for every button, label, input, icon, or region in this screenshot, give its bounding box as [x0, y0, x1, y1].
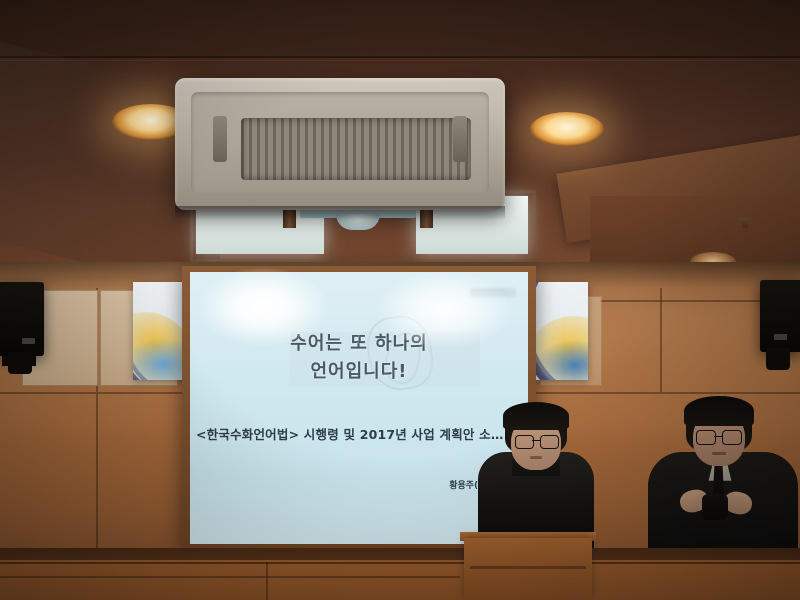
- ac-vane: [453, 116, 467, 162]
- speaker-mount-bracket: [766, 348, 790, 370]
- presenter-mouth: [530, 456, 542, 459]
- wainscot-seam: [0, 576, 460, 578]
- interpreter-hands-gap-shadow: [702, 494, 728, 520]
- recessed-downlight: [530, 112, 604, 146]
- interpreter-glasses-bridge: [714, 436, 722, 437]
- ceiling-cassette-air-conditioner: [175, 78, 505, 210]
- speaker-mount-arm: [2, 356, 36, 366]
- wall-panel-seam: [660, 288, 662, 392]
- interpreter-hair-top: [684, 396, 754, 426]
- wood-wainscot: [0, 560, 800, 600]
- slide-title-line2: 언어입니다!: [190, 358, 528, 386]
- podium-front-edge: [470, 566, 586, 569]
- ceiling-seam-highlight: [0, 60, 800, 61]
- wall-panel-seam: [96, 394, 98, 550]
- ac-drop-shadow: [175, 206, 505, 220]
- ac-vane: [213, 116, 227, 162]
- wooden-podium: [464, 538, 592, 600]
- ceiling-seam: [0, 56, 800, 58]
- slide-title: 수어는 또 하나의 언어입니다!: [190, 330, 528, 386]
- interpreter-glasses: [696, 430, 716, 445]
- ceiling-dark-band: [0, 0, 800, 58]
- ac-inner-panel: [191, 92, 489, 194]
- slide-subtitle: <한국수화언어법> 시행령 및 2017년 사업 계획안 소…: [196, 424, 528, 443]
- presenter-glasses: [540, 435, 559, 449]
- interpreter-mouth: [712, 452, 726, 455]
- decorative-banner: [528, 282, 588, 380]
- interpreter-glasses: [722, 430, 742, 445]
- presenter-glasses-bridge: [532, 440, 540, 441]
- wall-speaker: [760, 280, 800, 352]
- wall-panel-seam: [536, 392, 800, 394]
- slide-logo-icon: [470, 288, 516, 297]
- slide-title-line1: 수어는 또 하나의: [290, 333, 427, 354]
- wainscot-top-seam: [0, 562, 800, 564]
- wall-panel-seam: [0, 392, 182, 394]
- wainscot-vertical-seam: [266, 562, 268, 600]
- ac-grille: [241, 118, 471, 180]
- presenter-hair-top: [503, 402, 569, 430]
- wall-speaker: [0, 282, 44, 356]
- presentation-room-photo: 수어는 또 하나의 언어입니다! <한국수화언어법> 시행령 및 2017년 사…: [0, 0, 800, 600]
- presenter-glasses: [515, 435, 534, 449]
